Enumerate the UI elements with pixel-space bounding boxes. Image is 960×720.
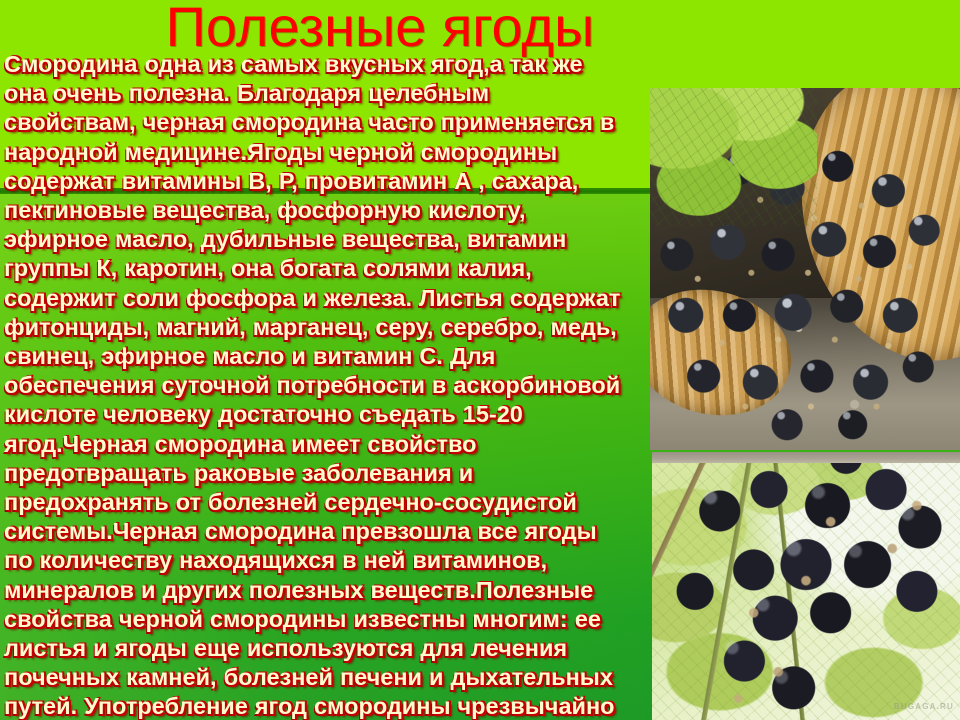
body-line: эфирное масло, дубильные вещества, витам…	[4, 225, 652, 254]
body-line: кислоте человеку достаточно съедать 15-2…	[4, 400, 652, 429]
body-line: листья и ягоды еще используются для лече…	[4, 634, 652, 663]
body-line: она очень полезна. Благодаря целебным	[4, 79, 652, 108]
presentation-slide: Полезные ягоды Смородина одна из самых в…	[0, 0, 960, 720]
body-line: фитонциды, магний, марганец, серу, сереб…	[4, 313, 652, 342]
body-line: Смородина одна из самых вкусных ягод,а т…	[4, 50, 652, 79]
body-line: свойствам, черная смородина часто примен…	[4, 108, 652, 137]
bush-berry-calyx-marks	[652, 452, 960, 720]
blackcurrant-basket-photo	[650, 88, 960, 450]
blackcurrant-bush-photo: BUGAGA.RU	[652, 452, 960, 720]
body-line: почечных камней, болезней печени и дыхат…	[4, 663, 652, 692]
body-line: содержит соли фосфора и железа. Листья с…	[4, 284, 652, 313]
body-line: свойства черной смородины известны многи…	[4, 605, 652, 634]
body-line: содержат витамины В, Р, провитамин А , с…	[4, 167, 652, 196]
body-line: свинец, эфирное масло и витамин С. Для	[4, 342, 652, 371]
body-line: минералов и других полезных веществ.Поле…	[4, 576, 652, 605]
body-line: пектиновые вещества, фосфорную кислоту,	[4, 196, 652, 225]
slide-body-text: Смородина одна из самых вкусных ягод,а т…	[4, 50, 652, 720]
body-line: путей. Употребление ягод смородины чрезв…	[4, 692, 652, 720]
body-line: группы К, каротин, она богата солями кал…	[4, 254, 652, 283]
body-line: обеспечения суточной потребности в аскор…	[4, 371, 652, 400]
slide-title: Полезные ягоды	[0, 0, 760, 58]
currant-leaves	[650, 88, 817, 226]
body-line: предохранять от болезней сердечно-сосуди…	[4, 488, 652, 517]
body-line: системы.Черная смородина превзошла все я…	[4, 517, 652, 546]
body-line: по количеству находящихся в ней витамино…	[4, 546, 652, 575]
photo-top-edge-strip	[652, 452, 960, 463]
body-line: предотвращать раковые заболевания и	[4, 459, 652, 488]
body-line: народной медицине.Ягоды черной смородины	[4, 138, 652, 167]
body-line: ягод.Черная смородина имеет свойство	[4, 430, 652, 459]
watermark-text: BUGAGA.RU	[894, 702, 954, 711]
